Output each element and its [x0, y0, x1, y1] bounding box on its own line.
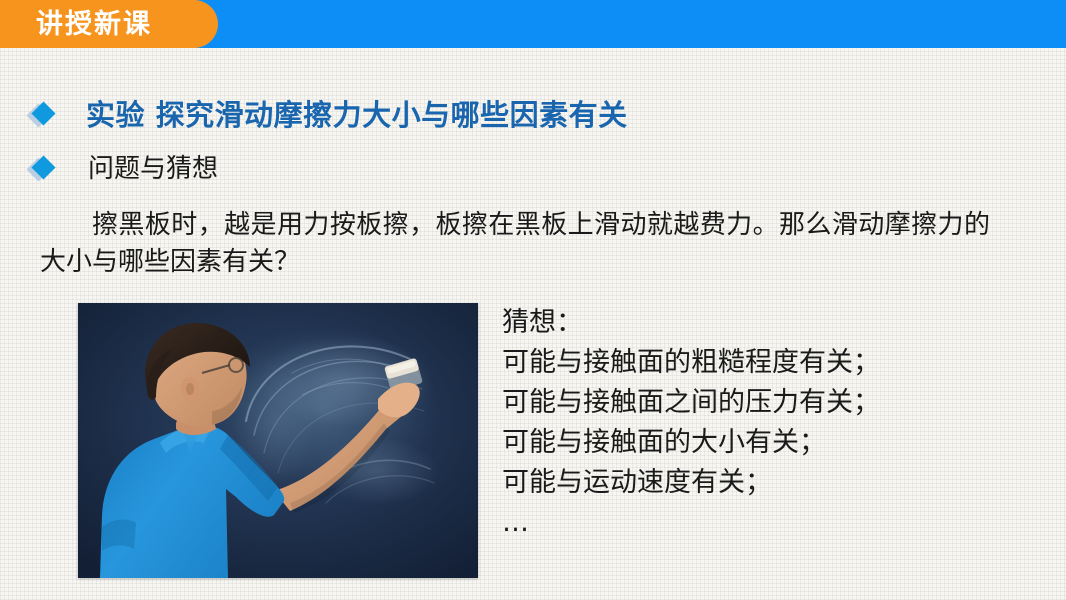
slide-canvas: 讲授新课 实验 探究滑动摩擦力大小与哪些因素有关 问题与猜想 擦黑板时，越是用力…	[0, 0, 1066, 600]
diamond-bullet-icon-subsection	[30, 158, 52, 180]
section-title: 实验 探究滑动摩擦力大小与哪些因素有关	[86, 98, 628, 133]
guess-list: 猜想： 可能与接触面的粗糙程度有关； 可能与接触面之间的压力有关； 可能与接触面…	[502, 303, 1047, 543]
header-section-tab-label: 讲授新课	[0, 11, 152, 38]
header-section-tab[interactable]: 讲授新课	[0, 0, 218, 48]
header-bar: 讲授新课	[0, 0, 1066, 48]
subsection-title: 问题与猜想	[88, 154, 218, 185]
guess-label: 猜想：	[502, 303, 1047, 343]
guess-item: 可能与接触面之间的压力有关；	[502, 383, 1047, 423]
guess-item: 可能与接触面的粗糙程度有关；	[502, 343, 1047, 383]
guess-ellipsis: …	[502, 503, 1047, 543]
guess-item: 可能与运动速度有关；	[502, 463, 1047, 503]
blackboard-photo	[78, 303, 478, 578]
guess-item: 可能与接触面的大小有关；	[502, 423, 1047, 463]
diamond-bullet-icon-section	[30, 104, 52, 126]
blackboard-photo-illustration	[78, 303, 478, 578]
intro-paragraph: 擦黑板时，越是用力按板擦，板擦在黑板上滑动就越费力。那么滑动摩擦力的大小与哪些因…	[40, 207, 990, 281]
